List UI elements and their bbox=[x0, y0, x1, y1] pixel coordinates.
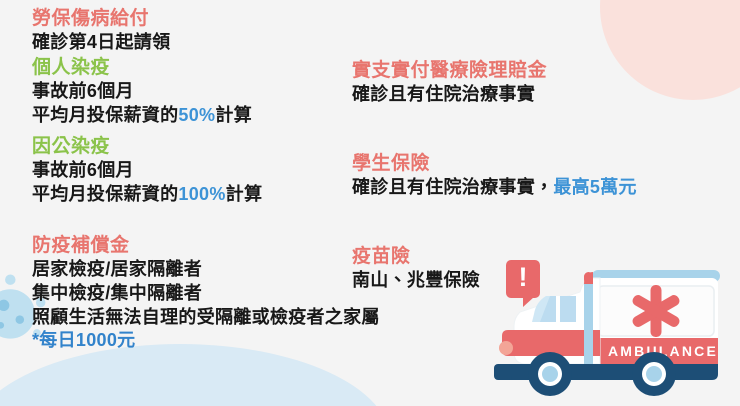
block-line: 事故前6個月 bbox=[32, 159, 362, 183]
percentage-value: 100% bbox=[178, 184, 225, 204]
spacer bbox=[352, 200, 734, 226]
ambulance-illustration: ! AMBULANCE bbox=[494, 252, 740, 404]
benefit-block-medical-reimbursement: 實支實付醫療險理賠金 確診且有住院治療事實 bbox=[352, 58, 734, 107]
line-text: 確診第4日起請領 bbox=[32, 32, 170, 52]
spacer bbox=[32, 127, 362, 134]
block-heading: 學生保險 bbox=[352, 151, 734, 176]
benefit-block-personal-infection: 個人染疫 事故前6個月 平均月投保薪資的50%計算 bbox=[32, 55, 362, 128]
benefit-block-student-insurance: 學生保險 確診且有住院治療事實，最高5萬元 bbox=[352, 151, 734, 200]
line-text: 平均月投保薪資的 bbox=[32, 184, 178, 204]
exclamation-mark: ! bbox=[506, 264, 540, 291]
line-text: 事故前6個月 bbox=[32, 160, 134, 180]
infographic-poster: 勞保傷病給付 確診第4日起請領 個人染疫 事故前6個月 平均月投保薪資的50%計… bbox=[0, 0, 740, 406]
block-heading: 防疫補償金 bbox=[32, 233, 362, 258]
max-amount-value: 最高5萬元 bbox=[553, 177, 637, 197]
line-text: 居家檢疫/居家隔離者 bbox=[32, 259, 202, 279]
block-line: 照顧生活無法自理的受隔離或檢疫者之家屬 bbox=[32, 306, 362, 330]
block-line: 事故前6個月 bbox=[32, 80, 362, 104]
block-line: 確診且有住院治療事實，最高5萬元 bbox=[352, 176, 734, 200]
block-line: 居家檢疫/居家隔離者 bbox=[32, 258, 362, 282]
spacer bbox=[352, 226, 734, 244]
line-text: 計算 bbox=[215, 105, 252, 125]
percentage-value: 50% bbox=[178, 105, 215, 125]
line-text: 照顧生活無法自理的受隔離或檢疫者之家屬 bbox=[32, 307, 380, 327]
block-heading: 因公染疫 bbox=[32, 134, 362, 159]
benefit-block-occupational-infection: 因公染疫 事故前6個月 平均月投保薪資的100%計算 bbox=[32, 134, 362, 207]
block-line: 確診且有住院治療事實 bbox=[352, 83, 734, 107]
line-text: 確診且有住院治療事實， bbox=[352, 177, 553, 197]
block-heading: 實支實付醫療險理賠金 bbox=[352, 58, 734, 83]
spacer bbox=[32, 207, 362, 233]
block-heading: 個人染疫 bbox=[32, 55, 362, 80]
line-text: 集中檢疫/集中隔離者 bbox=[32, 283, 202, 303]
block-line: 集中檢疫/集中隔離者 bbox=[32, 282, 362, 306]
benefit-block-quarantine-compensation: 防疫補償金 居家檢疫/居家隔離者 集中檢疫/集中隔離者 照顧生活無法自理的受隔離… bbox=[32, 233, 362, 353]
block-line: 平均月投保薪資的100%計算 bbox=[32, 183, 362, 207]
line-text: 確診且有住院治療事實 bbox=[352, 84, 535, 104]
block-line: 確診第4日起請領 bbox=[32, 31, 362, 55]
line-text: 事故前6個月 bbox=[32, 81, 134, 101]
alert-bubble-icon: ! bbox=[506, 260, 540, 298]
block-heading: 勞保傷病給付 bbox=[32, 6, 362, 31]
benefit-block-labor-insurance: 勞保傷病給付 確診第4日起請領 bbox=[32, 6, 362, 55]
blue-wave-decoration bbox=[0, 344, 390, 406]
daily-amount-note: *每日1000元 bbox=[32, 329, 362, 353]
block-line: 平均月投保薪資的50%計算 bbox=[32, 104, 362, 128]
left-column: 勞保傷病給付 確診第4日起請領 個人染疫 事故前6個月 平均月投保薪資的50%計… bbox=[32, 6, 362, 353]
spacer bbox=[352, 133, 734, 151]
spacer bbox=[352, 107, 734, 133]
line-text: *每日1000元 bbox=[32, 330, 135, 350]
line-text: 計算 bbox=[226, 184, 263, 204]
line-text: 平均月投保薪資的 bbox=[32, 105, 178, 125]
line-text: 南山、兆豐保險 bbox=[352, 270, 480, 290]
